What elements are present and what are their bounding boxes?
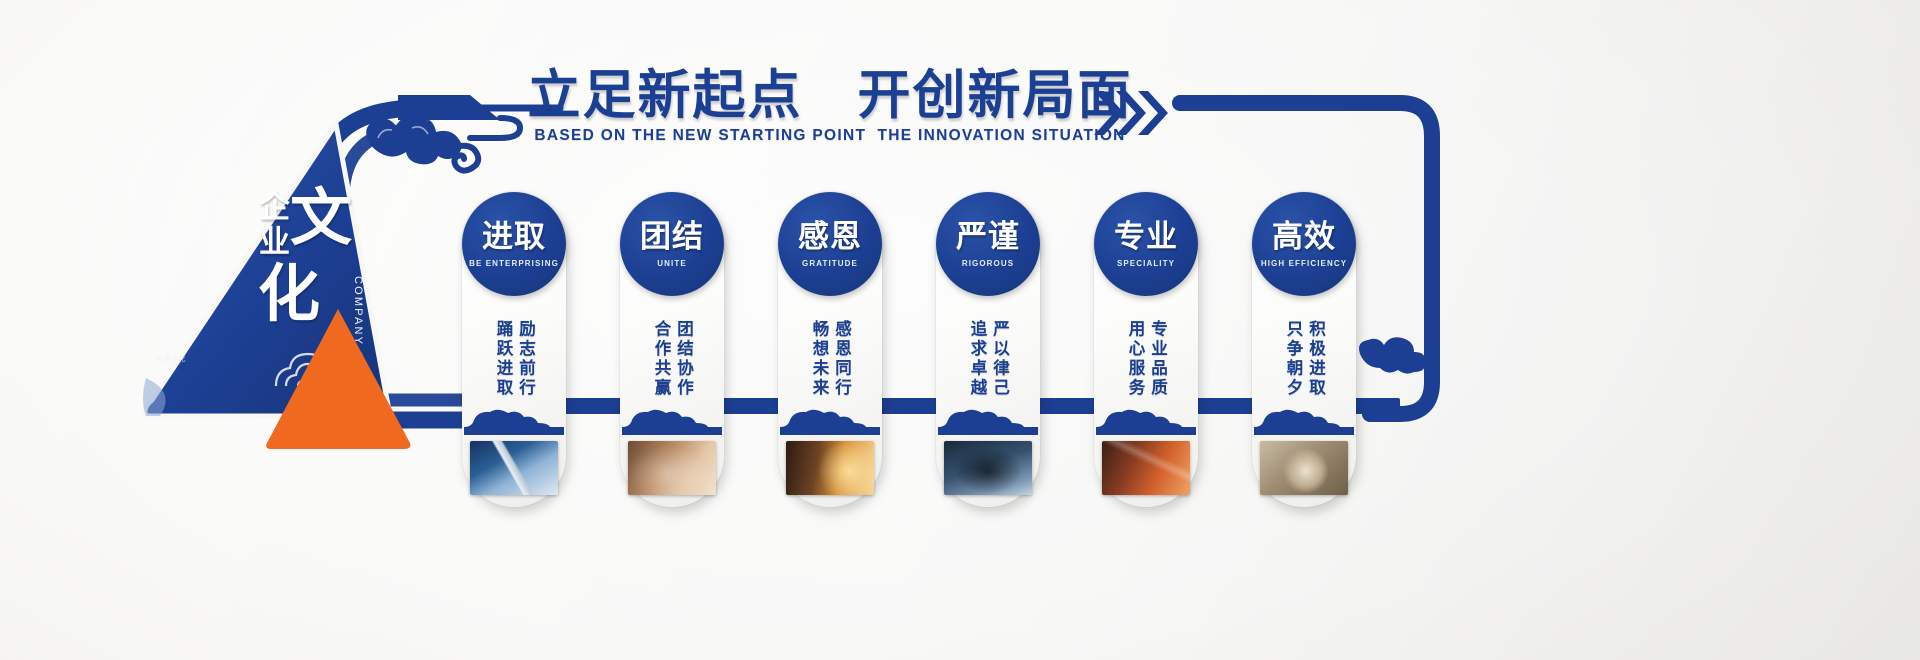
value-pill-ganen[interactable]: 感恩 GRATITUDE 感恩同行 畅想未来 [778, 192, 882, 507]
value-pill-row: 进取 BE ENTERPRISING 励志前行 踊跃进取 团结 UNITE 团 [0, 0, 1920, 660]
pill-title-en: UNITE [657, 259, 687, 268]
value-pill-yanjin[interactable]: 严谨 RIGOROUS 严以律己 追求卓越 [936, 192, 1040, 507]
pill-photo-climbing [470, 441, 558, 495]
value-pill-tuanjie[interactable]: 团结 UNITE 团结协作 合作共赢 [620, 192, 724, 507]
pill-title-cn: 严谨 [956, 221, 1020, 252]
value-pill-gaoxiao[interactable]: 高效 HIGH EFFICIENCY 积极进取 只争朝夕 [1252, 192, 1356, 507]
pill-title-en: BE ENTERPRISING [469, 259, 559, 268]
pill-circle-jinqu: 进取 BE ENTERPRISING [462, 192, 566, 296]
pill-title-en: GRATITUDE [802, 259, 858, 268]
culture-wall-stage: 企业 文 化 COMPANY CULTURE 企业文化 [0, 0, 1920, 660]
pill-title-cn: 感恩 [798, 221, 862, 252]
pill-photo-sunset-helping-hand [786, 441, 874, 495]
pill-title-en: RIGOROUS [962, 259, 1014, 268]
value-pill-zhuanye[interactable]: 专业 SPECIALITY 专业品质 用心服务 [1094, 192, 1198, 507]
pill-title-cn: 高效 [1272, 221, 1336, 252]
pill-circle-tuanjie: 团结 UNITE [620, 192, 724, 296]
pill-circle-ganen: 感恩 GRATITUDE [778, 192, 882, 296]
pill-photo-runner-track [1102, 441, 1190, 495]
pill-cloud-icon [464, 407, 564, 435]
pill-title-en: HIGH EFFICIENCY [1261, 259, 1347, 268]
pill-photo-eagle [944, 441, 1032, 495]
pill-cloud-icon [1254, 407, 1354, 435]
pill-circle-gaoxiao: 高效 HIGH EFFICIENCY [1252, 192, 1356, 296]
cloud-ornament-right-icon [1352, 330, 1432, 378]
pill-circle-zhuanye: 专业 SPECIALITY [1094, 192, 1198, 296]
pill-title-cn: 专业 [1114, 221, 1178, 252]
pill-title-cn: 进取 [482, 221, 546, 252]
pill-photo-stopwatch [1260, 441, 1348, 495]
pill-cloud-icon [780, 407, 880, 435]
pill-title-cn: 团结 [640, 221, 704, 252]
pill-cloud-icon [622, 407, 722, 435]
pill-cloud-icon [1096, 407, 1196, 435]
pill-circle-yanjin: 严谨 RIGOROUS [936, 192, 1040, 296]
pill-photo-handshake [628, 441, 716, 495]
value-pill-jinqu[interactable]: 进取 BE ENTERPRISING 励志前行 踊跃进取 [462, 192, 566, 507]
pill-title-en: SPECIALITY [1117, 259, 1175, 268]
pill-cloud-icon [938, 407, 1038, 435]
